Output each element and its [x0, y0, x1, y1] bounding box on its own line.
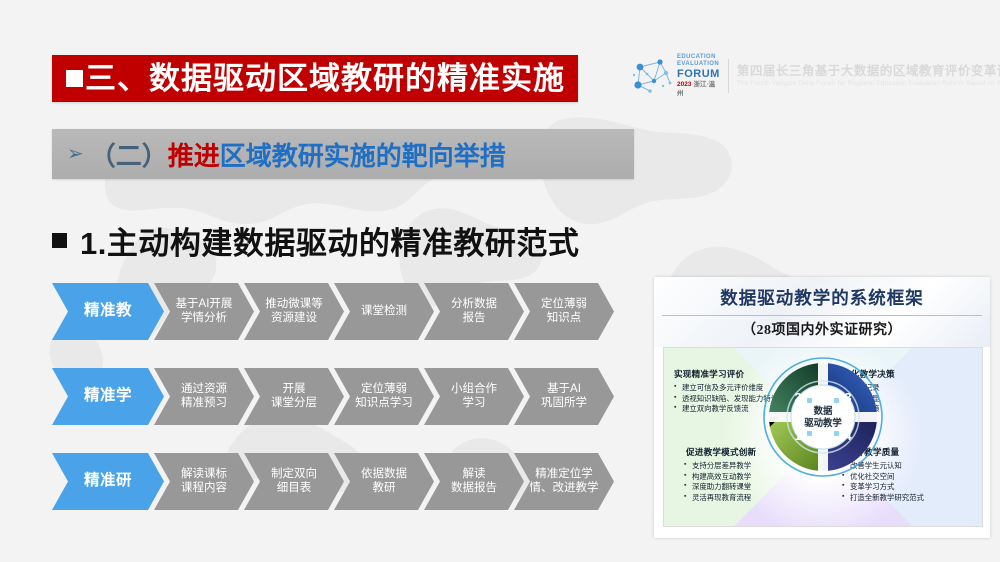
flow-step-text: 推动微课等资源建设 — [261, 298, 327, 325]
quadrant-item: 支持分层差异教学 — [678, 461, 756, 472]
logo-wordmark: EDUCATION EVALUATION FORUM 2023浙江·温州 — [677, 55, 720, 97]
flow-step[interactable]: 解读课标课程内容 — [154, 453, 254, 510]
flow-stage-text: 精准学 — [80, 387, 136, 405]
flow-step-text: 制定双向细目表 — [267, 468, 321, 495]
framework-panel: 数据驱动教学的系统框架 （28项国内外实证研究） 实现精准学习评价 建立可信及多… — [654, 277, 990, 538]
flow-step-text: 基于AI巩固所学 — [537, 383, 591, 410]
logo-line-evaluation: EVALUATION — [677, 61, 720, 68]
process-flow-row: 精准教基于AI开展学情分析推动微课等资源建设课堂检测分析数据报告定位薄弱知识点 — [52, 283, 644, 340]
flow-step-text: 定位薄弱知识点学习 — [351, 383, 417, 410]
framework-title: 数据驱动教学的系统框架 — [654, 285, 990, 310]
flow-stage-label[interactable]: 精准研 — [52, 453, 164, 510]
logo-divider — [728, 59, 729, 93]
flow-step-text: 开展课堂分层 — [267, 383, 321, 410]
title-square-bullet-icon — [66, 70, 83, 87]
flow-step-text: 通过资源精准预习 — [177, 383, 231, 410]
content-heading-text: 1.主动构建数据驱动的精准教研范式 — [80, 218, 579, 263]
process-flow-row: 精准学通过资源精准预习开展课堂分层定位薄弱知识点学习小组合作学习基于AI巩固所学 — [52, 368, 644, 425]
forum-logo: EDUCATION EVALUATION FORUM 2023浙江·温州 第四届… — [630, 52, 1000, 100]
quadrant-item: 灵活再现教育流程 — [678, 493, 756, 504]
flow-step[interactable]: 定位薄弱知识点 — [514, 283, 614, 340]
content-heading: 1.主动构建数据驱动的精准教研范式 — [52, 218, 579, 263]
center-donut-chart: 2 3 1 4 数据驱动教学 — [762, 356, 884, 478]
flow-step-text: 解读数据报告 — [447, 468, 501, 495]
subsection-highlight: 推进 — [168, 136, 220, 173]
quadrant-item: 变革学习方式 — [842, 482, 924, 493]
framework-subtitle: （28项国内外实证研究） — [654, 319, 990, 339]
flow-step[interactable]: 小组合作学习 — [424, 368, 524, 425]
flow-step-text: 精准定位学情、改进教学 — [526, 468, 603, 495]
quadrant-bottom-left: 促进教学模式创新 支持分层差异教学构建高效互动教学深度助力翻转课堂灵活再现教育流… — [678, 446, 756, 503]
process-flow-row: 精准研解读课标课程内容制定双向细目表依据数据教研解读数据报告精准定位学情、改进教… — [52, 453, 644, 510]
flow-step[interactable]: 分析数据报告 — [424, 283, 524, 340]
segment-number-2: 2 — [794, 390, 801, 405]
quadrant-items: 支持分层差异教学构建高效互动教学深度助力翻转课堂灵活再现教育流程 — [678, 461, 756, 503]
flow-step-text: 课堂检测 — [357, 305, 411, 319]
flow-step[interactable]: 课堂检测 — [334, 283, 434, 340]
logo-line-education: EDUCATION — [677, 54, 720, 61]
flow-stage-text: 精准教 — [80, 302, 136, 320]
panel-divider — [662, 315, 982, 316]
flow-step[interactable]: 定位薄弱知识点学习 — [334, 368, 434, 425]
flow-step[interactable]: 基于AI开展学情分析 — [154, 283, 254, 340]
flow-step[interactable]: 通过资源精准预习 — [154, 368, 254, 425]
flow-stage-label[interactable]: 精准学 — [52, 368, 164, 425]
segment-number-1: 1 — [794, 428, 801, 443]
flow-step-text: 分析数据报告 — [447, 298, 501, 325]
quadrant-item: 深度助力翻转课堂 — [678, 482, 756, 493]
segment-number-4: 4 — [844, 428, 852, 443]
heading-square-bullet-icon — [52, 233, 67, 248]
flow-step[interactable]: 基于AI巩固所学 — [514, 368, 614, 425]
framework-diagram: 实现精准学习评价 建立可信及多元评价维度透视知识缺陷、发现能力特长建立双向教学反… — [663, 347, 983, 527]
flow-stage-text: 精准研 — [80, 472, 136, 490]
flow-step-text: 定位薄弱知识点 — [537, 298, 591, 325]
quadrant-item: 打造全新教学研究范式 — [842, 493, 924, 504]
flow-step-text: 基于AI开展学情分析 — [172, 298, 237, 325]
logo-year-city: 2023浙江·温州 — [677, 80, 720, 98]
section-title-text: 三、数据驱动区域教研的精准实施 — [85, 63, 565, 94]
flow-step-text: 解读课标课程内容 — [177, 468, 231, 495]
forum-name-en: The Fourth Yangtze Delta Forum for Regio… — [737, 79, 1000, 89]
flow-step[interactable]: 推动微课等资源建设 — [244, 283, 344, 340]
subsection-title-bar: ➢ （二） 推进 区域教研实施的靶向举措 — [52, 129, 634, 179]
section-title-bar: 三、数据驱动区域教研的精准实施 — [52, 55, 578, 102]
forum-name-cn: 第四届长三角基于大数据的区域教育评价变革论坛 — [737, 64, 1000, 79]
arrow-bullet-icon: ➢ — [67, 144, 84, 164]
flow-step-text: 依据数据教研 — [357, 468, 411, 495]
slide-canvas: 三、数据驱动区域教研的精准实施 — [0, 0, 1000, 562]
subsection-prefix: （二） — [90, 136, 168, 173]
donut-center-label: 数据驱动教学 — [793, 405, 853, 429]
flow-step[interactable]: 制定双向细目表 — [244, 453, 344, 510]
process-flow: 精准教基于AI开展学情分析推动微课等资源建设课堂检测分析数据报告定位薄弱知识点精… — [52, 283, 644, 538]
segment-number-3: 3 — [844, 390, 851, 405]
network-node-logo-icon — [630, 55, 674, 97]
quadrant-heading: 促进教学模式创新 — [678, 446, 756, 458]
logo-year: 2023 — [677, 81, 691, 88]
logo-line-forum: FORUM — [677, 68, 720, 80]
flow-step[interactable]: 解读数据报告 — [424, 453, 524, 510]
subsection-rest: 区域教研实施的靶向举措 — [220, 136, 506, 173]
forum-name-block: 第四届长三角基于大数据的区域教育评价变革论坛 The Fourth Yangtz… — [737, 64, 1000, 89]
flow-step[interactable]: 开展课堂分层 — [244, 368, 344, 425]
flow-step-text: 小组合作学习 — [447, 383, 501, 410]
flow-step[interactable]: 依据数据教研 — [334, 453, 434, 510]
flow-stage-label[interactable]: 精准教 — [52, 283, 164, 340]
flow-step[interactable]: 精准定位学情、改进教学 — [514, 453, 614, 510]
quadrant-item: 构建高效互动教学 — [678, 472, 756, 483]
